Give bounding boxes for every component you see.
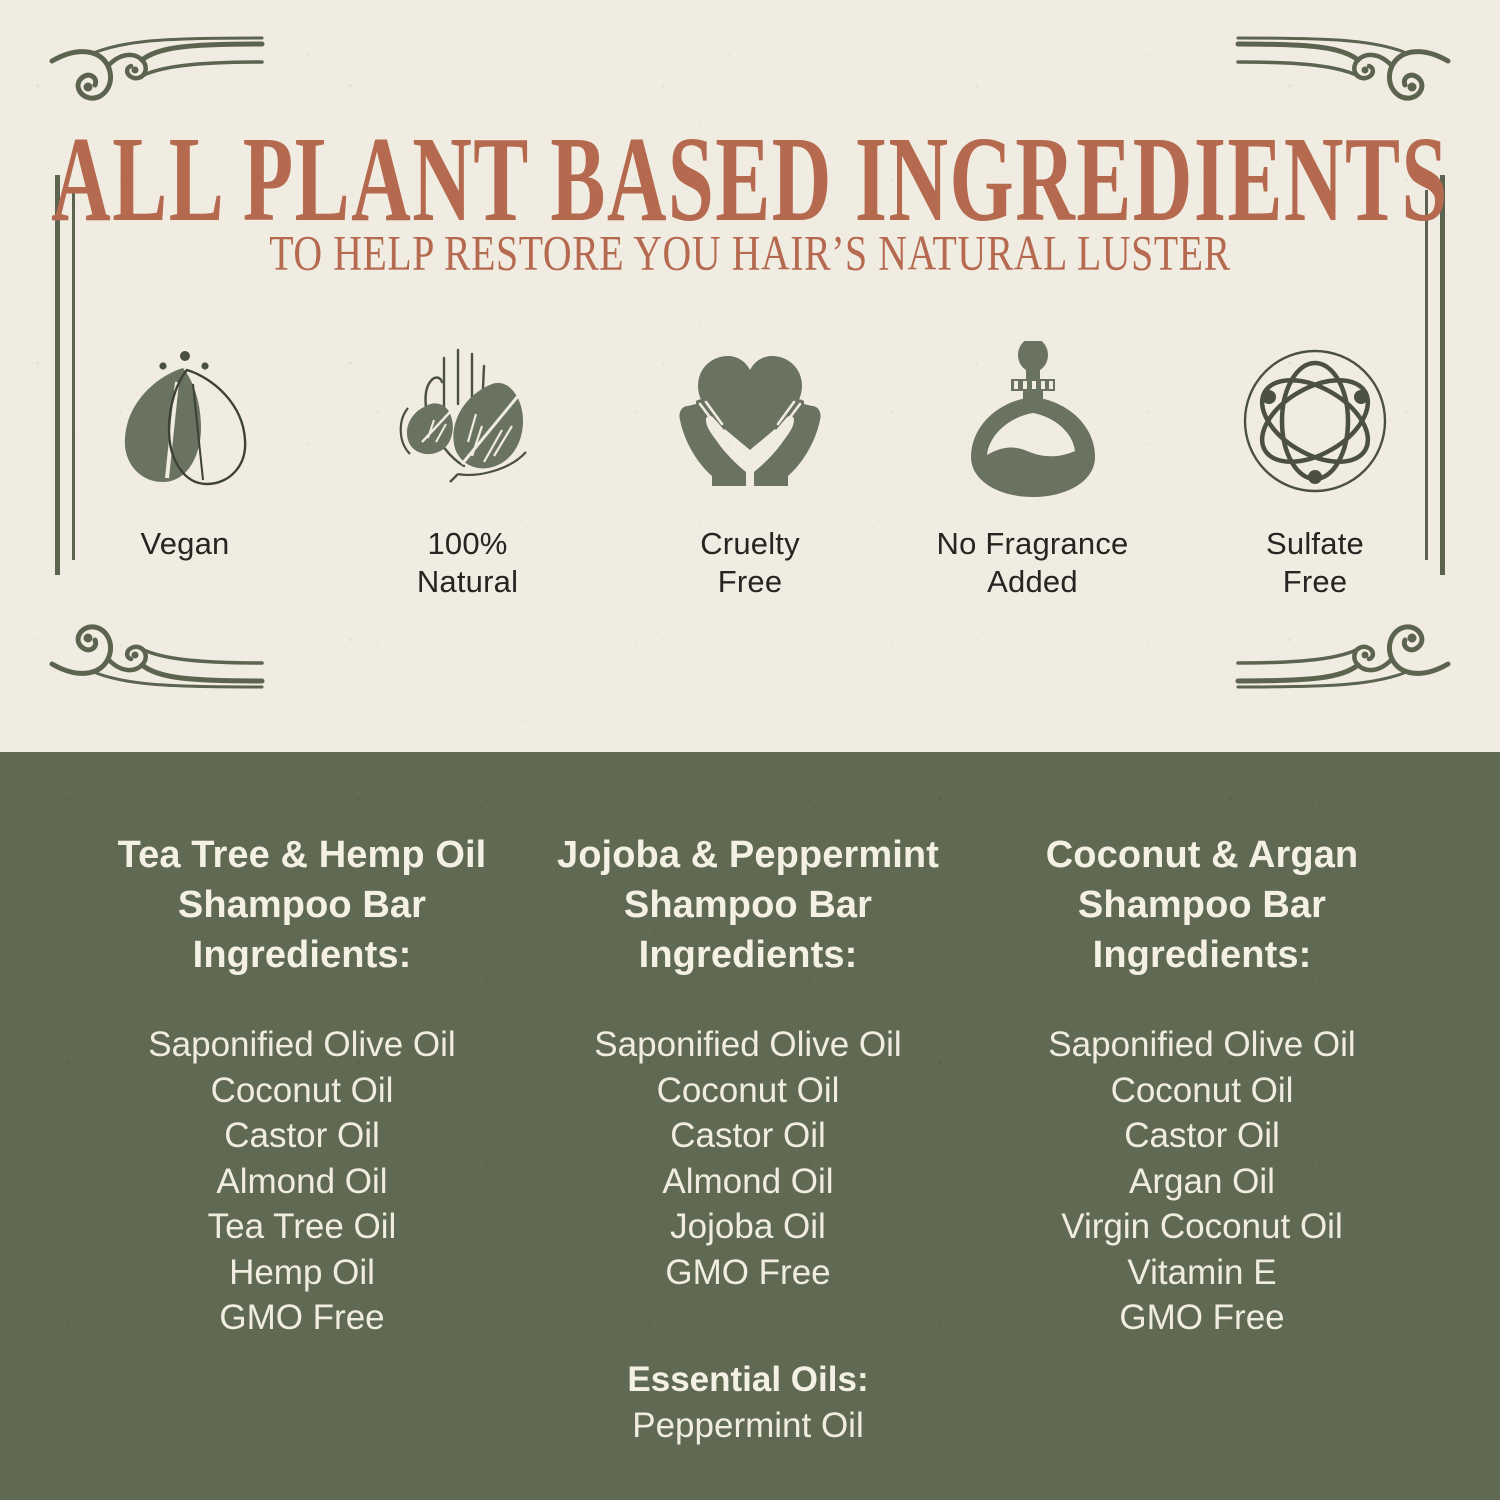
badge-label-no-fragrance: No FragranceAdded — [937, 525, 1129, 601]
column-heading: Tea Tree & Hemp OilShampoo BarIngredient… — [87, 830, 517, 980]
essential-oils-block: Essential Oils: Peppermint Oil — [518, 1357, 978, 1448]
column-heading: Jojoba & PeppermintShampoo BarIngredient… — [533, 830, 963, 980]
badge-cruelty-free: CrueltyFree — [625, 338, 875, 601]
list-item: GMO Free — [987, 1295, 1417, 1341]
list-item: Saponified Olive Oil — [987, 1022, 1417, 1068]
list-item: Coconut Oil — [987, 1068, 1417, 1114]
badge-sulfate-free: SulfateFree — [1190, 338, 1440, 601]
ingredient-column-coconut-argan: Coconut & ArganShampoo BarIngredients: S… — [972, 830, 1432, 1448]
list-item: GMO Free — [533, 1250, 963, 1296]
page-subtitle: TO HELP RESTORE YOU HAIR’S NATURAL LUSTE… — [23, 228, 1478, 278]
badge-label-sulfate-free: SulfateFree — [1266, 525, 1364, 601]
list-item: GMO Free — [87, 1295, 517, 1341]
list-item: Virgin Coconut Oil — [987, 1204, 1417, 1250]
bottom-green-panel: Tea Tree & Hemp OilShampoo BarIngredient… — [0, 752, 1500, 1500]
atom-icon — [1235, 338, 1395, 503]
heart-in-hands-icon — [666, 338, 834, 503]
essential-oils-item: Peppermint Oil — [518, 1403, 978, 1449]
list-item: Jojoba Oil — [533, 1204, 963, 1250]
badge-natural: 100%Natural — [343, 338, 593, 601]
list-item: Almond Oil — [533, 1159, 963, 1205]
list-item: Castor Oil — [533, 1113, 963, 1159]
list-item: Saponified Olive Oil — [87, 1022, 517, 1068]
list-item: Saponified Olive Oil — [533, 1022, 963, 1068]
ingredient-list: Saponified Olive Oil Coconut Oil Castor … — [87, 1022, 517, 1341]
badge-label-natural-text: 100%Natural — [417, 526, 518, 599]
ingredients-columns: Tea Tree & Hemp OilShampoo BarIngredient… — [0, 830, 1500, 1448]
list-item: Tea Tree Oil — [87, 1204, 517, 1250]
perfume-bottle-icon — [949, 338, 1117, 503]
list-item: Coconut Oil — [87, 1068, 517, 1114]
column-heading: Coconut & ArganShampoo BarIngredients: — [987, 830, 1417, 980]
badge-no-fragrance: No FragranceAdded — [908, 338, 1158, 601]
ingredient-column-jojoba-peppermint: Jojoba & PeppermintShampoo BarIngredient… — [518, 830, 978, 1448]
leaves-icon — [101, 338, 269, 503]
list-item: Castor Oil — [987, 1113, 1417, 1159]
list-item: Castor Oil — [87, 1113, 517, 1159]
ingredients-infographic: ALL PLANT BASED INGREDIENTS TO HELP REST… — [0, 0, 1500, 1500]
list-item: Hemp Oil — [87, 1250, 517, 1296]
top-cream-panel: ALL PLANT BASED INGREDIENTS TO HELP REST… — [0, 0, 1500, 752]
badge-label-vegan: Vegan — [141, 525, 230, 563]
badge-label-cruelty-free: CrueltyFree — [700, 525, 800, 601]
badge-label-natural: 100%Natural — [417, 525, 518, 601]
hand-leaves-icon — [384, 338, 552, 503]
list-item: Coconut Oil — [533, 1068, 963, 1114]
page-title: ALL PLANT BASED INGREDIENTS — [30, 118, 1470, 240]
ingredient-list: Saponified Olive Oil Coconut Oil Castor … — [533, 1022, 963, 1295]
list-item: Argan Oil — [987, 1159, 1417, 1205]
badge-row: Vegan — [60, 338, 1440, 601]
list-item: Almond Oil — [87, 1159, 517, 1205]
ingredient-column-tea-tree-hemp: Tea Tree & Hemp OilShampoo BarIngredient… — [72, 830, 532, 1448]
ingredient-list: Saponified Olive Oil Coconut Oil Castor … — [987, 1022, 1417, 1341]
badge-vegan: Vegan — [60, 338, 310, 563]
essential-oils-title: Essential Oils: — [518, 1357, 978, 1403]
list-item: Vitamin E — [987, 1250, 1417, 1296]
